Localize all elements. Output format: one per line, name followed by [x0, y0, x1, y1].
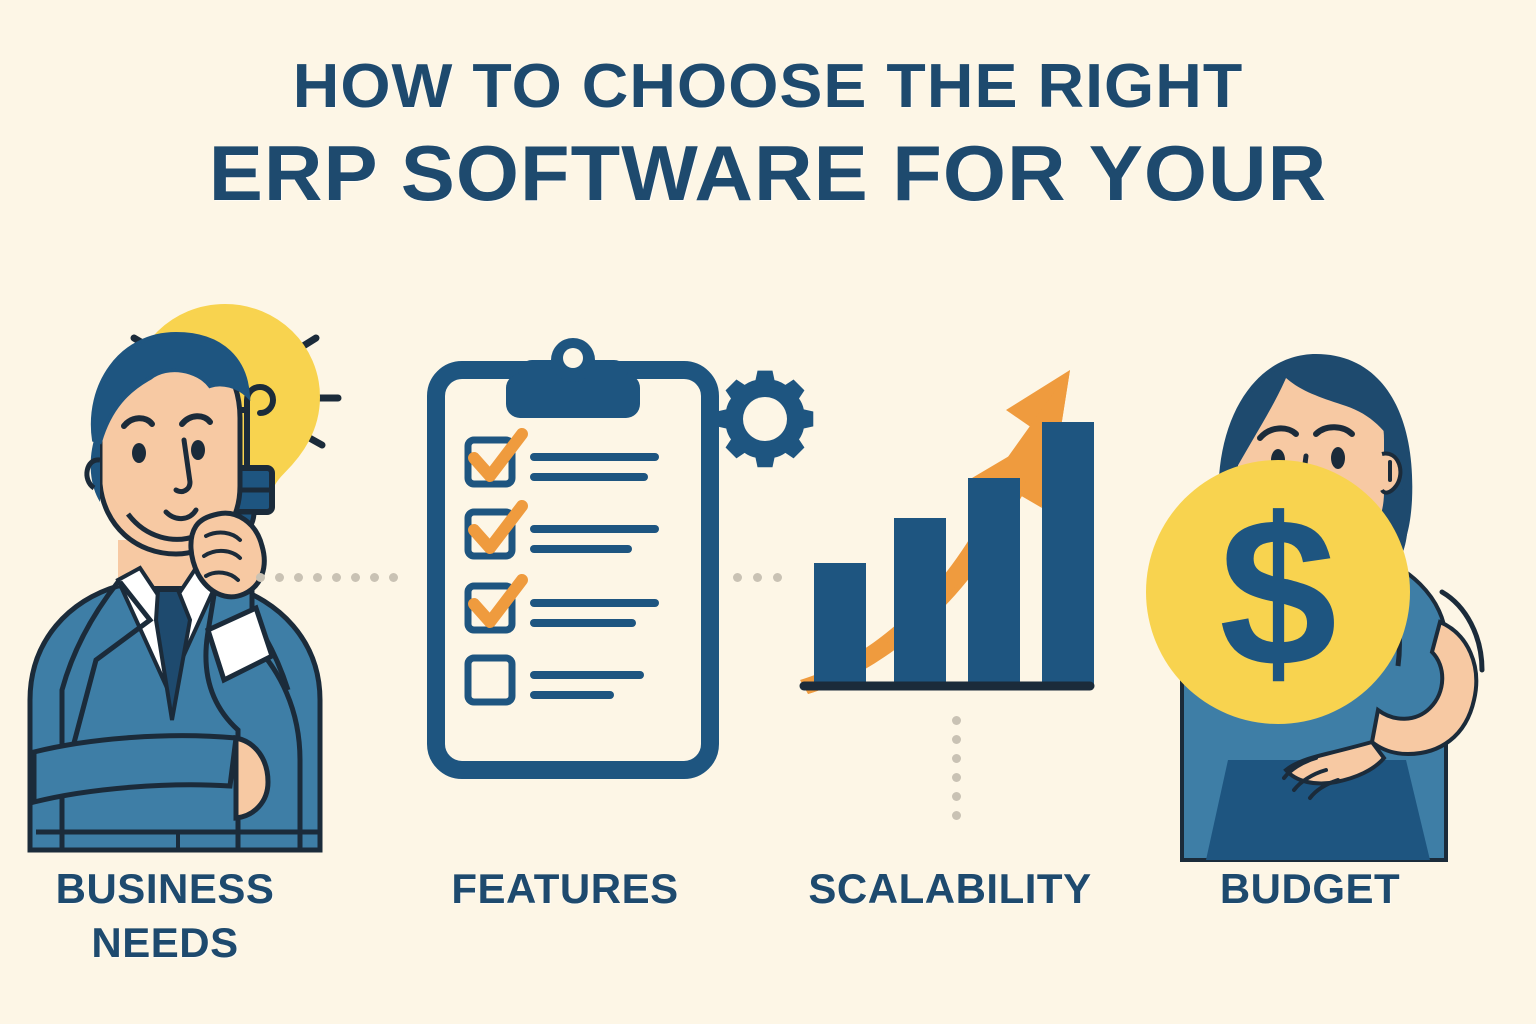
- step-label-line-1: FEATURES: [390, 862, 740, 916]
- step-label-features: FEATURES: [390, 862, 740, 916]
- connector-dot: [275, 573, 284, 582]
- connector-dot: [294, 573, 303, 582]
- connector-dot: [753, 573, 762, 582]
- connector-dot: [313, 573, 322, 582]
- step-label-line-2: NEEDS: [0, 916, 330, 970]
- step-label-line-1: SCALABILITY: [770, 862, 1130, 916]
- bar-chart-bars: [814, 422, 1094, 684]
- step-label-budget: BUDGET: [1130, 862, 1490, 916]
- woman-with-coin-icon: $: [1146, 354, 1482, 860]
- step-label-business-needs: BUSINESS NEEDS: [0, 862, 330, 970]
- step-label-line-1: BUSINESS: [0, 862, 330, 916]
- step-label-line-1: BUDGET: [1130, 862, 1490, 916]
- connector-scalability-to-budget: [952, 716, 964, 826]
- svg-text:$: $: [1219, 474, 1337, 711]
- step-illustration-budget: $: [1110, 330, 1510, 860]
- connector-dot: [351, 573, 360, 582]
- connector-dot: [952, 792, 961, 801]
- connector-dot: [952, 811, 961, 820]
- connector-dot: [952, 716, 961, 725]
- checklist-row[interactable]: [468, 658, 640, 702]
- connector-dot: [332, 573, 341, 582]
- clipboard-checklist-icon: [436, 338, 710, 770]
- bar: [1042, 422, 1094, 684]
- connector-features-to-scalability: [733, 573, 793, 585]
- checklist-row[interactable]: [468, 434, 655, 484]
- connector-needs-to-features: [256, 573, 406, 585]
- bar: [814, 563, 866, 684]
- connector-dot: [952, 735, 961, 744]
- page-title-line-2: ERP SOFTWARE FOR YOUR: [0, 134, 1536, 212]
- connector-dot: [389, 573, 398, 582]
- infographic-canvas: HOW TO CHOOSE THE RIGHT ERP SOFTWARE FOR…: [0, 0, 1536, 1024]
- checklist-row[interactable]: [468, 506, 655, 556]
- step-illustration-business-needs: [0, 290, 400, 850]
- page-title-line-1: HOW TO CHOOSE THE RIGHT: [0, 56, 1536, 118]
- bar: [894, 518, 946, 684]
- connector-dot: [733, 573, 742, 582]
- step-illustration-scalability: [790, 350, 1110, 700]
- page-title: HOW TO CHOOSE THE RIGHT ERP SOFTWARE FOR…: [0, 56, 1536, 212]
- step-label-scalability: SCALABILITY: [770, 862, 1130, 916]
- connector-dot: [370, 573, 379, 582]
- connector-dot: [773, 573, 782, 582]
- connector-dot: [952, 773, 961, 782]
- bar: [968, 478, 1020, 684]
- connector-dot: [952, 754, 961, 763]
- step-illustration-features: [410, 330, 830, 790]
- checklist-row[interactable]: [468, 580, 655, 630]
- dollar-sign-icon: $: [1219, 474, 1337, 711]
- connector-dot: [256, 573, 265, 582]
